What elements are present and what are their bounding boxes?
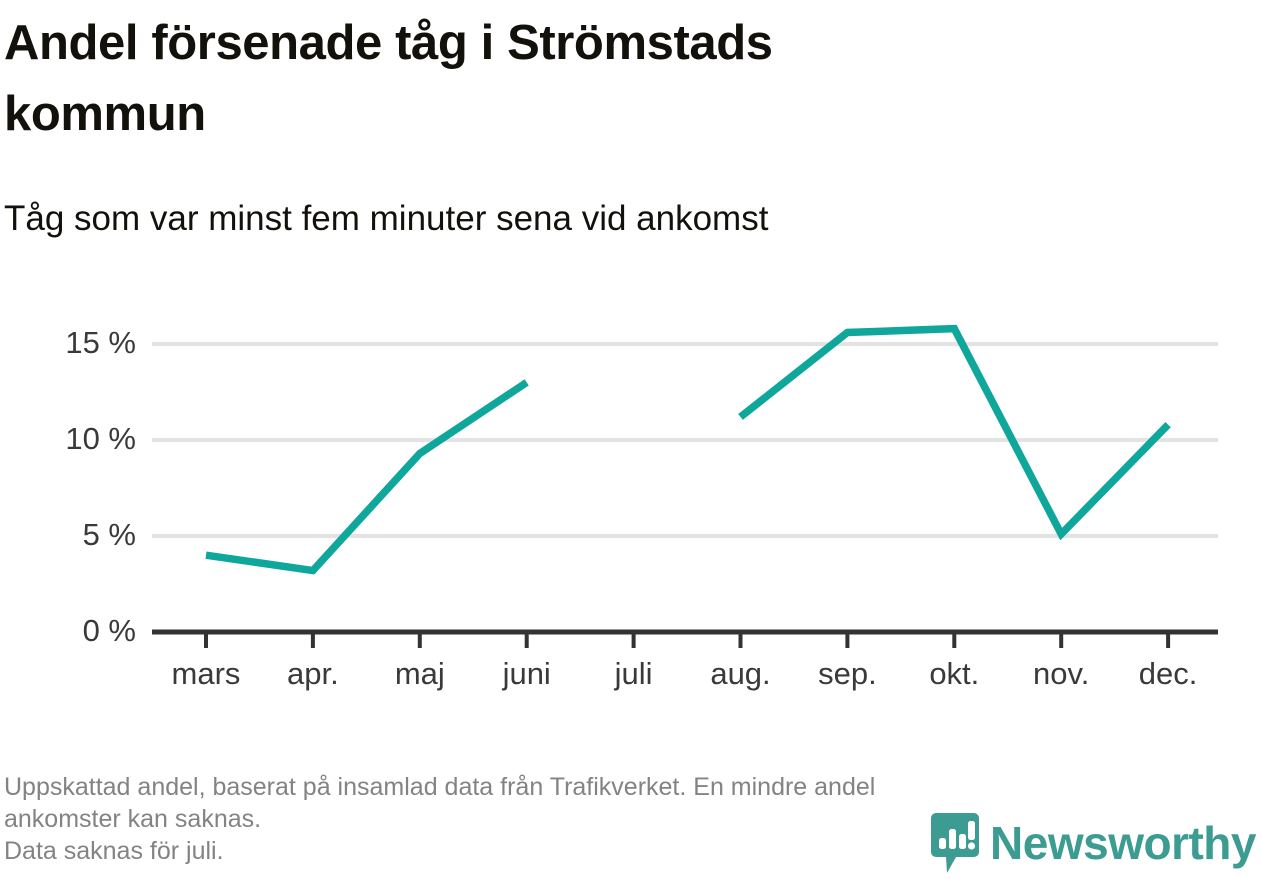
- x-axis-labels: marsapr.majjunijuliaug.sep.okt.nov.dec.: [172, 656, 1198, 691]
- x-tick-label: dec.: [1139, 656, 1198, 691]
- x-tick-label: okt.: [929, 656, 979, 691]
- x-tick-label: juni: [502, 656, 551, 691]
- x-tick-label: mars: [172, 656, 241, 691]
- series-segment: [206, 382, 527, 570]
- chart-page: Andel försenade tåg i Strömstads kommun …: [0, 0, 1262, 879]
- series-segment: [741, 329, 1169, 534]
- x-axis-ticks: [206, 634, 1168, 648]
- page-title: Andel försenade tåg i Strömstads kommun: [4, 8, 1104, 149]
- x-tick-label: maj: [395, 656, 445, 691]
- gridlines: [152, 344, 1218, 536]
- x-tick-label: sep.: [818, 656, 877, 691]
- line-chart: 0 %5 %10 %15 % marsapr.majjunijuliaug.se…: [0, 296, 1262, 716]
- y-tick-label: 0 %: [83, 613, 136, 648]
- y-tick-label: 10 %: [65, 421, 136, 456]
- y-tick-label: 15 %: [65, 325, 136, 360]
- y-axis-labels: 0 %5 %10 %15 %: [65, 325, 136, 648]
- x-tick-label: apr.: [287, 656, 339, 691]
- page-subtitle: Tåg som var minst fem minuter sena vid a…: [4, 198, 1184, 240]
- x-tick-label: nov.: [1033, 656, 1089, 691]
- y-tick-label: 5 %: [83, 517, 136, 552]
- newsworthy-logo: Newsworthy: [930, 812, 1256, 874]
- chart-svg: 0 %5 %10 %15 % marsapr.majjunijuliaug.se…: [0, 296, 1262, 716]
- x-tick-label: aug.: [710, 656, 770, 691]
- speech-bubble-bar-chart-icon: [930, 812, 980, 874]
- logo-wordmark: Newsworthy: [990, 820, 1256, 866]
- x-tick-label: juli: [614, 656, 653, 691]
